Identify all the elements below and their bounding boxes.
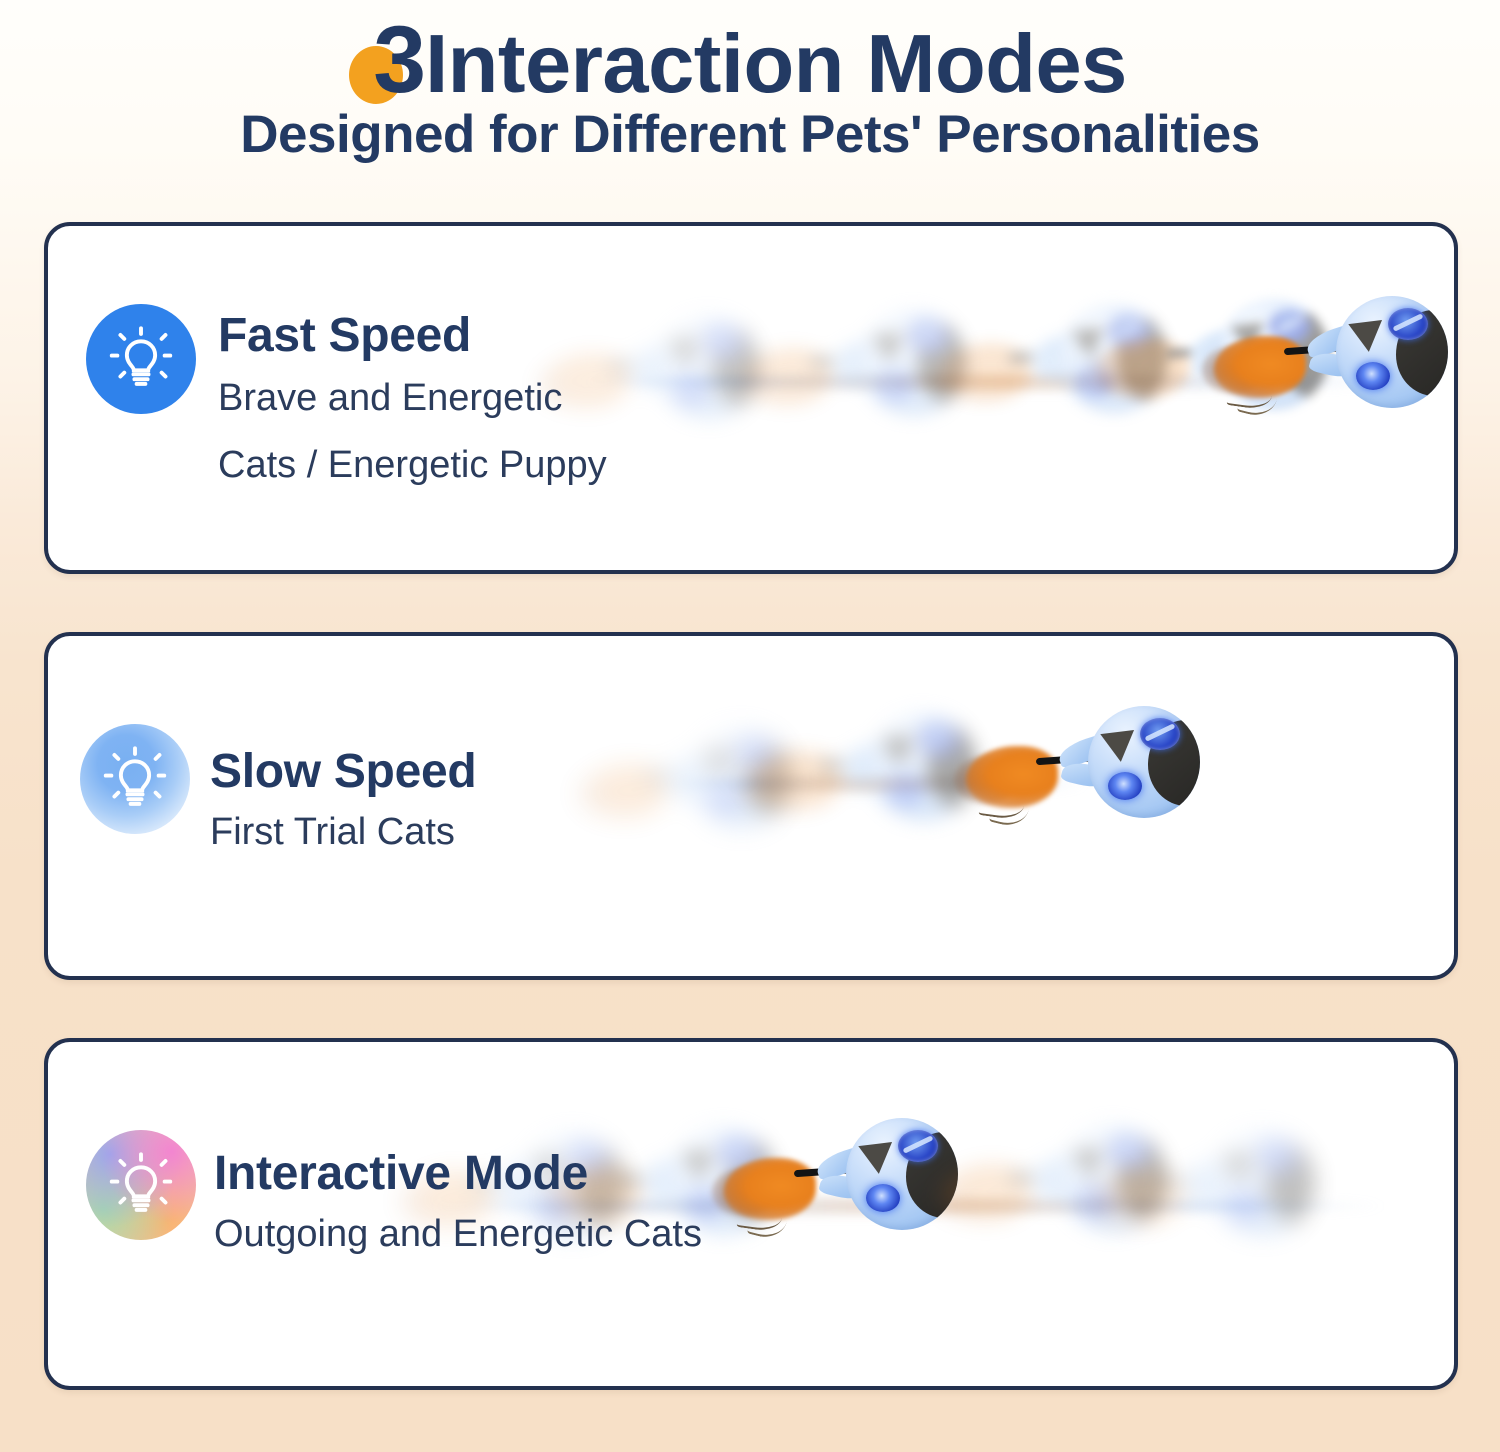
page-header: 3 Interaction Modes Designed for Differe…: [0, 0, 1500, 165]
mode-text-block: Slow Speed First Trial Cats: [210, 724, 476, 863]
mode-card-interactive-mode[interactable]: Interactive Mode Outgoing and Energetic …: [44, 1038, 1458, 1390]
title-number-wrap: 3: [373, 8, 425, 140]
page-subtitle: Designed for Different Pets' Personaliti…: [0, 104, 1500, 165]
feather-plume: [944, 730, 1064, 828]
toy-motion-fast: [568, 248, 1458, 558]
cat-toy-ball: [1048, 706, 1198, 856]
mode-info-fast-speed: Fast Speed Brave and Energetic Cats / En…: [86, 304, 607, 497]
title-text: Interaction Modes: [425, 17, 1127, 110]
mode-info-slow-speed: Slow Speed First Trial Cats: [80, 724, 476, 863]
ball-led-icon: [1108, 772, 1142, 800]
feather-plume: [702, 1142, 822, 1240]
toy-ball-body: [1088, 706, 1200, 818]
ball-triangle-icon: [1100, 730, 1137, 764]
title-number: 3: [373, 7, 425, 113]
mode-card-slow-speed[interactable]: Slow Speed First Trial Cats: [44, 632, 1458, 980]
ball-port-icon: [1140, 718, 1180, 750]
toy-ghost: [1173, 1131, 1313, 1271]
mode-desc-line-2: Cats / Energetic Puppy: [218, 435, 607, 497]
page-title: 3 Interaction Modes: [0, 8, 1500, 112]
mode-desc-line-1: Outgoing and Energetic Cats: [214, 1204, 702, 1266]
ball-led-icon: [866, 1184, 900, 1212]
mode-desc-line-1: Brave and Energetic: [218, 368, 607, 430]
lightbulb-icon: [86, 304, 196, 414]
mode-text-block: Fast Speed Brave and Energetic Cats / En…: [218, 304, 607, 497]
mode-text-block: Interactive Mode Outgoing and Energetic …: [214, 1130, 702, 1265]
ball-port-icon: [1388, 308, 1428, 340]
ball-triangle-icon: [1348, 320, 1385, 354]
toy-motion-slow: [648, 646, 1248, 966]
ball-triangle-icon: [858, 1142, 895, 1176]
lightbulb-icon: [86, 1130, 196, 1240]
cat-toy-ball: [1296, 296, 1446, 446]
mode-title: Interactive Mode: [214, 1148, 702, 1200]
mode-title: Fast Speed: [218, 310, 607, 362]
feather-plume: [1192, 320, 1312, 418]
ball-led-icon: [1356, 362, 1390, 390]
toy-ball-body: [1336, 296, 1448, 408]
mode-info-interactive-mode: Interactive Mode Outgoing and Energetic …: [86, 1130, 702, 1265]
mode-desc-line-1: First Trial Cats: [210, 802, 476, 864]
lightbulb-icon: [80, 724, 190, 834]
mode-title: Slow Speed: [210, 746, 476, 798]
mode-card-fast-speed[interactable]: Fast Speed Brave and Energetic Cats / En…: [44, 222, 1458, 574]
